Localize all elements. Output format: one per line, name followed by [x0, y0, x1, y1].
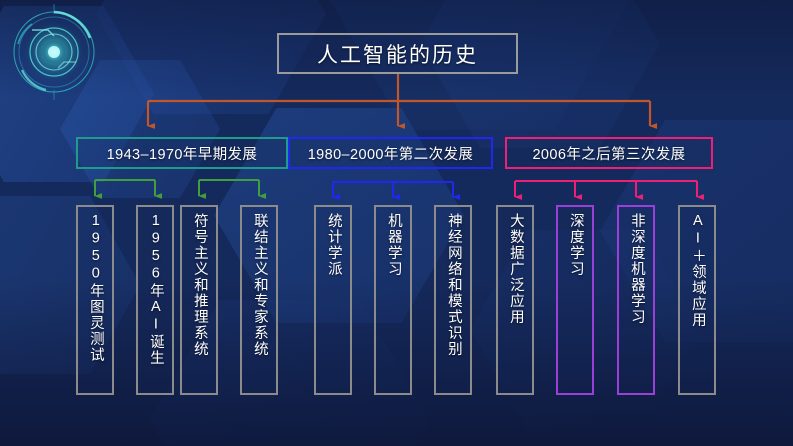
leaf-box[interactable]: 联结主义和专家系统 [240, 205, 278, 395]
leaf-label: 统计学派 [324, 213, 342, 277]
leaf-box[interactable]: 神经网络和模式识别 [434, 205, 472, 395]
leaf-label: 机器学习 [384, 213, 402, 277]
leaf-label: AI＋领域应用 [688, 213, 706, 328]
era-box-1[interactable]: 1943–1970年早期发展 [76, 137, 288, 169]
leaf-box[interactable]: 大数据广泛应用 [496, 205, 534, 395]
leaf-box[interactable]: 深度学习 [556, 205, 594, 395]
leaf-box[interactable]: 非深度机器学习 [617, 205, 655, 395]
era-label: 1980–2000年第二次发展 [308, 143, 474, 164]
era-label: 2006年之后第三次发展 [532, 143, 685, 164]
page-title: 人工智能的历史 [317, 39, 478, 69]
leaf-label: 大数据广泛应用 [506, 213, 524, 325]
leaf-label: 1956年AI诞生 [146, 213, 164, 366]
leaf-label: 非深度机器学习 [627, 213, 645, 325]
slide-title-box: 人工智能的历史 [277, 33, 518, 74]
leaf-box[interactable]: 1956年AI诞生 [136, 205, 174, 395]
leaf-label: 联结主义和专家系统 [250, 213, 268, 357]
leaf-box[interactable]: 机器学习 [374, 205, 412, 395]
era-box-2[interactable]: 1980–2000年第二次发展 [288, 137, 493, 169]
leaf-label: 神经网络和模式识别 [444, 213, 462, 357]
leaf-box[interactable]: 1950年图灵测试 [76, 205, 114, 395]
slide-canvas: 人工智能的历史 [0, 0, 793, 446]
era-box-3[interactable]: 2006年之后第三次发展 [505, 137, 713, 169]
leaf-box[interactable]: 统计学派 [314, 205, 352, 395]
tech-circle-logo-icon [2, 0, 106, 104]
era-label: 1943–1970年早期发展 [107, 143, 258, 164]
leaf-box[interactable]: 符号主义和推理系统 [180, 205, 218, 395]
leaf-label: 符号主义和推理系统 [190, 213, 208, 357]
leaf-label: 深度学习 [566, 213, 584, 277]
leaf-box[interactable]: AI＋领域应用 [678, 205, 716, 395]
leaf-label: 1950年图灵测试 [86, 213, 104, 363]
